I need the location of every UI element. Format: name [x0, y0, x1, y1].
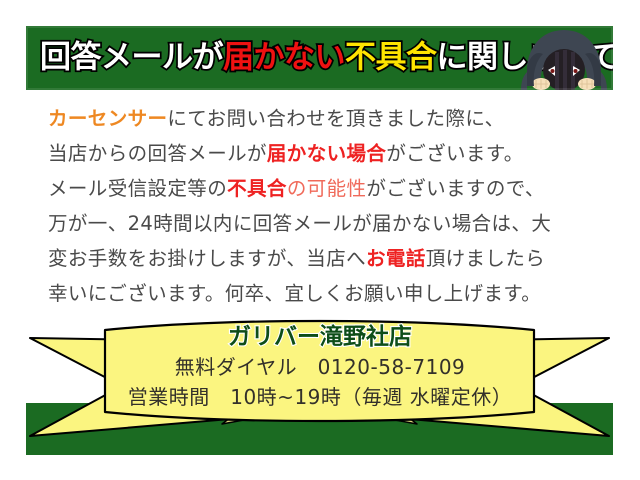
body-line-6-seg-1: 幸いにございます。何卒、宜しくお願い申し上げます。 [48, 282, 541, 305]
body-line-5: 変お手数をお掛けしますが、当店へお電話頂けましたら [48, 241, 608, 276]
body-line-3-seg-2: 不具合 [227, 177, 287, 200]
body-line-4: 万が一、24時間以内に回答メールが届かない場合は、大 [48, 206, 608, 241]
body-line-6: 幸いにございます。何卒、宜しくお願い申し上げます。 [48, 276, 608, 311]
ribbon-text-block: ガリバー滝野社店 無料ダイヤル 0120-58-7109 営業時間 10時~19… [105, 322, 535, 412]
header-title-part-1: 回答メールが [40, 40, 223, 76]
header-title-part-2: 届かない [223, 40, 345, 76]
body-line-2: 当店からの回答メールが届かない場合がございます。 [48, 136, 608, 171]
header-title-part-3: 不具合 [345, 40, 437, 76]
body-paragraph: カーセンサーにてお問い合わせを頂きました際に、 当店からの回答メールが届かない場… [48, 101, 608, 311]
body-line-1: カーセンサーにてお問い合わせを頂きました際に、 [48, 101, 608, 136]
body-line-5-seg-3: 頂けましたら [426, 247, 545, 270]
body-line-5-seg-2: お電話 [366, 247, 426, 270]
hooded-character-icon [521, 28, 607, 90]
body-line-2-seg-2: 届かない場合 [267, 142, 386, 165]
body-line-3: メール受信設定等の不具合の可能性がございますので、 [48, 171, 608, 206]
advert-page: 回答メールが届かない不具合に関しまして [0, 0, 640, 480]
body-line-2-seg-1: 当店からの回答メールが [48, 142, 267, 165]
body-line-2-seg-3: がございます。 [386, 142, 523, 165]
body-line-1-seg-1: カーセンサー [48, 107, 167, 130]
body-line-3-seg-3: の可能性 [287, 177, 367, 200]
header-banner: 回答メールが届かない不具合に関しまして [26, 26, 613, 90]
body-line-1-seg-2: にてお問い合わせを頂きました際に、 [167, 107, 504, 130]
body-line-3-seg-4: がございますので、 [366, 177, 544, 200]
free-dial-line: 無料ダイヤル 0120-58-7109 [105, 352, 535, 382]
body-line-5-seg-1: 変お手数をお掛けしますが、当店へ [48, 247, 366, 270]
body-line-3-seg-1: メール受信設定等の [48, 177, 227, 200]
business-hours-line: 営業時間 10時~19時（毎週 水曜定休） [105, 382, 535, 412]
shop-name: ガリバー滝野社店 [105, 322, 535, 352]
body-line-4-seg-1: 万が一、24時間以内に回答メールが届かない場合は、大 [48, 212, 551, 235]
